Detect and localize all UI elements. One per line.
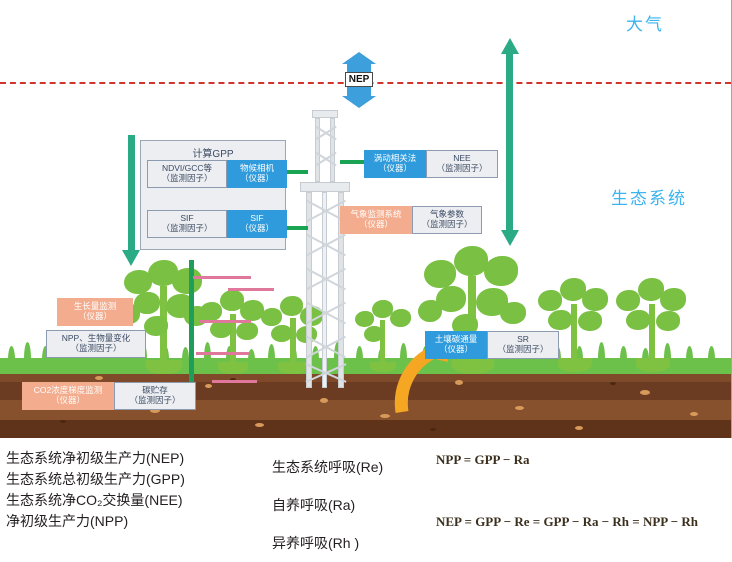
formula-nep: NEP = GPP − Re = GPP − Ra − Rh = NPP − R… <box>436 514 698 530</box>
box-ndvi-gcc-factor[interactable]: NDVI/GCC等 （监测因子） <box>147 160 227 188</box>
measurement-bar-3 <box>196 352 250 355</box>
measurement-bar-5 <box>228 288 274 291</box>
box-met-sub: （仪器） <box>359 220 393 230</box>
box-sif-instrument-sub: （仪器） <box>240 224 274 234</box>
label-atmosphere: 大气 <box>626 10 664 35</box>
box-nee-factor[interactable]: NEE （监测因子） <box>426 150 498 178</box>
box-growth-monitor-instrument[interactable]: 生长量监测 （仪器） <box>57 298 133 326</box>
box-eddy-covariance-instrument[interactable]: 涡动相关法 （仪器） <box>364 150 426 178</box>
box-phenocam-instrument[interactable]: 物候相机 （仪器） <box>227 160 287 188</box>
box-phenocam-sub: （仪器） <box>240 174 274 184</box>
box-sr-factor[interactable]: SR （监测因子） <box>487 331 559 359</box>
gpp-flux-arrow-head <box>122 250 140 266</box>
box-npp-sub: （监测因子） <box>70 344 121 354</box>
diagram-root: NEP 计算GPP NDVI/GCC等 （监测因子） 物候相机 （仪器） SIF… <box>0 0 732 548</box>
measurement-bar-2 <box>199 320 251 323</box>
nep-label: NEP <box>345 72 373 87</box>
ecosystem-arrow-head-bottom <box>501 230 519 246</box>
gpp-flux-arrow-shaft <box>128 135 135 251</box>
box-npp-biomass-factor[interactable]: NPP、生物量变化 （监测因子） <box>46 330 146 358</box>
box-sif-instrument[interactable]: SIF （仪器） <box>227 210 287 238</box>
box-sif-factor-sub: （监测因子） <box>161 224 212 234</box>
legend-item-gpp: 生态系统总初级生产力(GPP) <box>6 469 185 490</box>
box-sif-factor[interactable]: SIF （监测因子） <box>147 210 227 238</box>
box-carbon-sub: （监测因子） <box>129 396 180 406</box>
box-nee-sub: （监测因子） <box>436 164 487 174</box>
connector-tower-eddy <box>340 160 364 164</box>
ecosystem-arrow-shaft <box>506 53 513 231</box>
formula-npp: NPP = GPP − Ra <box>436 452 530 468</box>
tree-right-3 <box>612 278 692 372</box>
scene: NEP 计算GPP NDVI/GCC等 （监测因子） 物候相机 （仪器） SIF… <box>0 0 732 438</box>
box-eddy-sub: （仪器） <box>378 164 412 174</box>
legend-item-re: 生态系统呼吸(Re) <box>272 448 383 486</box>
box-soilflux-sub: （仪器） <box>439 345 473 355</box>
legend-item-nep: 生态系统净初级生产力(NEP) <box>6 448 185 469</box>
box-met-params-factor[interactable]: 气象参数 （监测因子） <box>412 206 482 234</box>
flux-tower <box>296 110 354 388</box>
nep-flux-arrow: NEP <box>342 52 376 108</box>
box-co2-gradient-instrument[interactable]: CO2浓度梯度监测 （仪器） <box>22 382 114 410</box>
box-carbon-storage-factor[interactable]: 碳贮存 （监测因子） <box>114 382 196 410</box>
box-ndvi-gcc-sub: （监测因子） <box>161 174 212 184</box>
legend-column-2: 生态系统呼吸(Re) 自养呼吸(Ra) 异养呼吸(Rh ) <box>272 448 383 562</box>
measurement-pole <box>189 260 194 388</box>
legend: 生态系统净初级生产力(NEP) 生态系统总初级生产力(GPP) 生态系统净CO₂… <box>0 438 732 548</box>
box-met-system-instrument[interactable]: 气象监测系统 （仪器） <box>340 206 412 234</box>
box-growth-sub: （仪器） <box>78 312 112 322</box>
box-soil-carbon-flux-instrument[interactable]: 土壤碳通量 （仪器） <box>425 331 487 359</box>
legend-column-1: 生态系统净初级生产力(NEP) 生态系统总初级生产力(GPP) 生态系统净CO₂… <box>6 448 185 532</box>
legend-item-nee: 生态系统净CO₂交换量(NEE) <box>6 490 185 511</box>
legend-item-rh: 异养呼吸(Rh ) <box>272 524 383 562</box>
box-co2-sub: （仪器） <box>51 396 85 406</box>
box-sr-sub: （监测因子） <box>497 345 548 355</box>
label-ecosystem: 生态系统 <box>611 184 687 209</box>
measurement-bar-4 <box>212 380 257 383</box>
gpp-group-title: 计算GPP <box>141 145 285 160</box>
nep-arrow-down-head <box>342 96 376 108</box>
box-met-params-sub: （监测因子） <box>421 220 472 230</box>
legend-item-npp: 净初级生产力(NPP) <box>6 511 185 532</box>
ecosystem-arrow-head-top <box>501 38 519 54</box>
legend-item-ra: 自养呼吸(Ra) <box>272 486 383 524</box>
measurement-bar-1 <box>193 276 251 279</box>
